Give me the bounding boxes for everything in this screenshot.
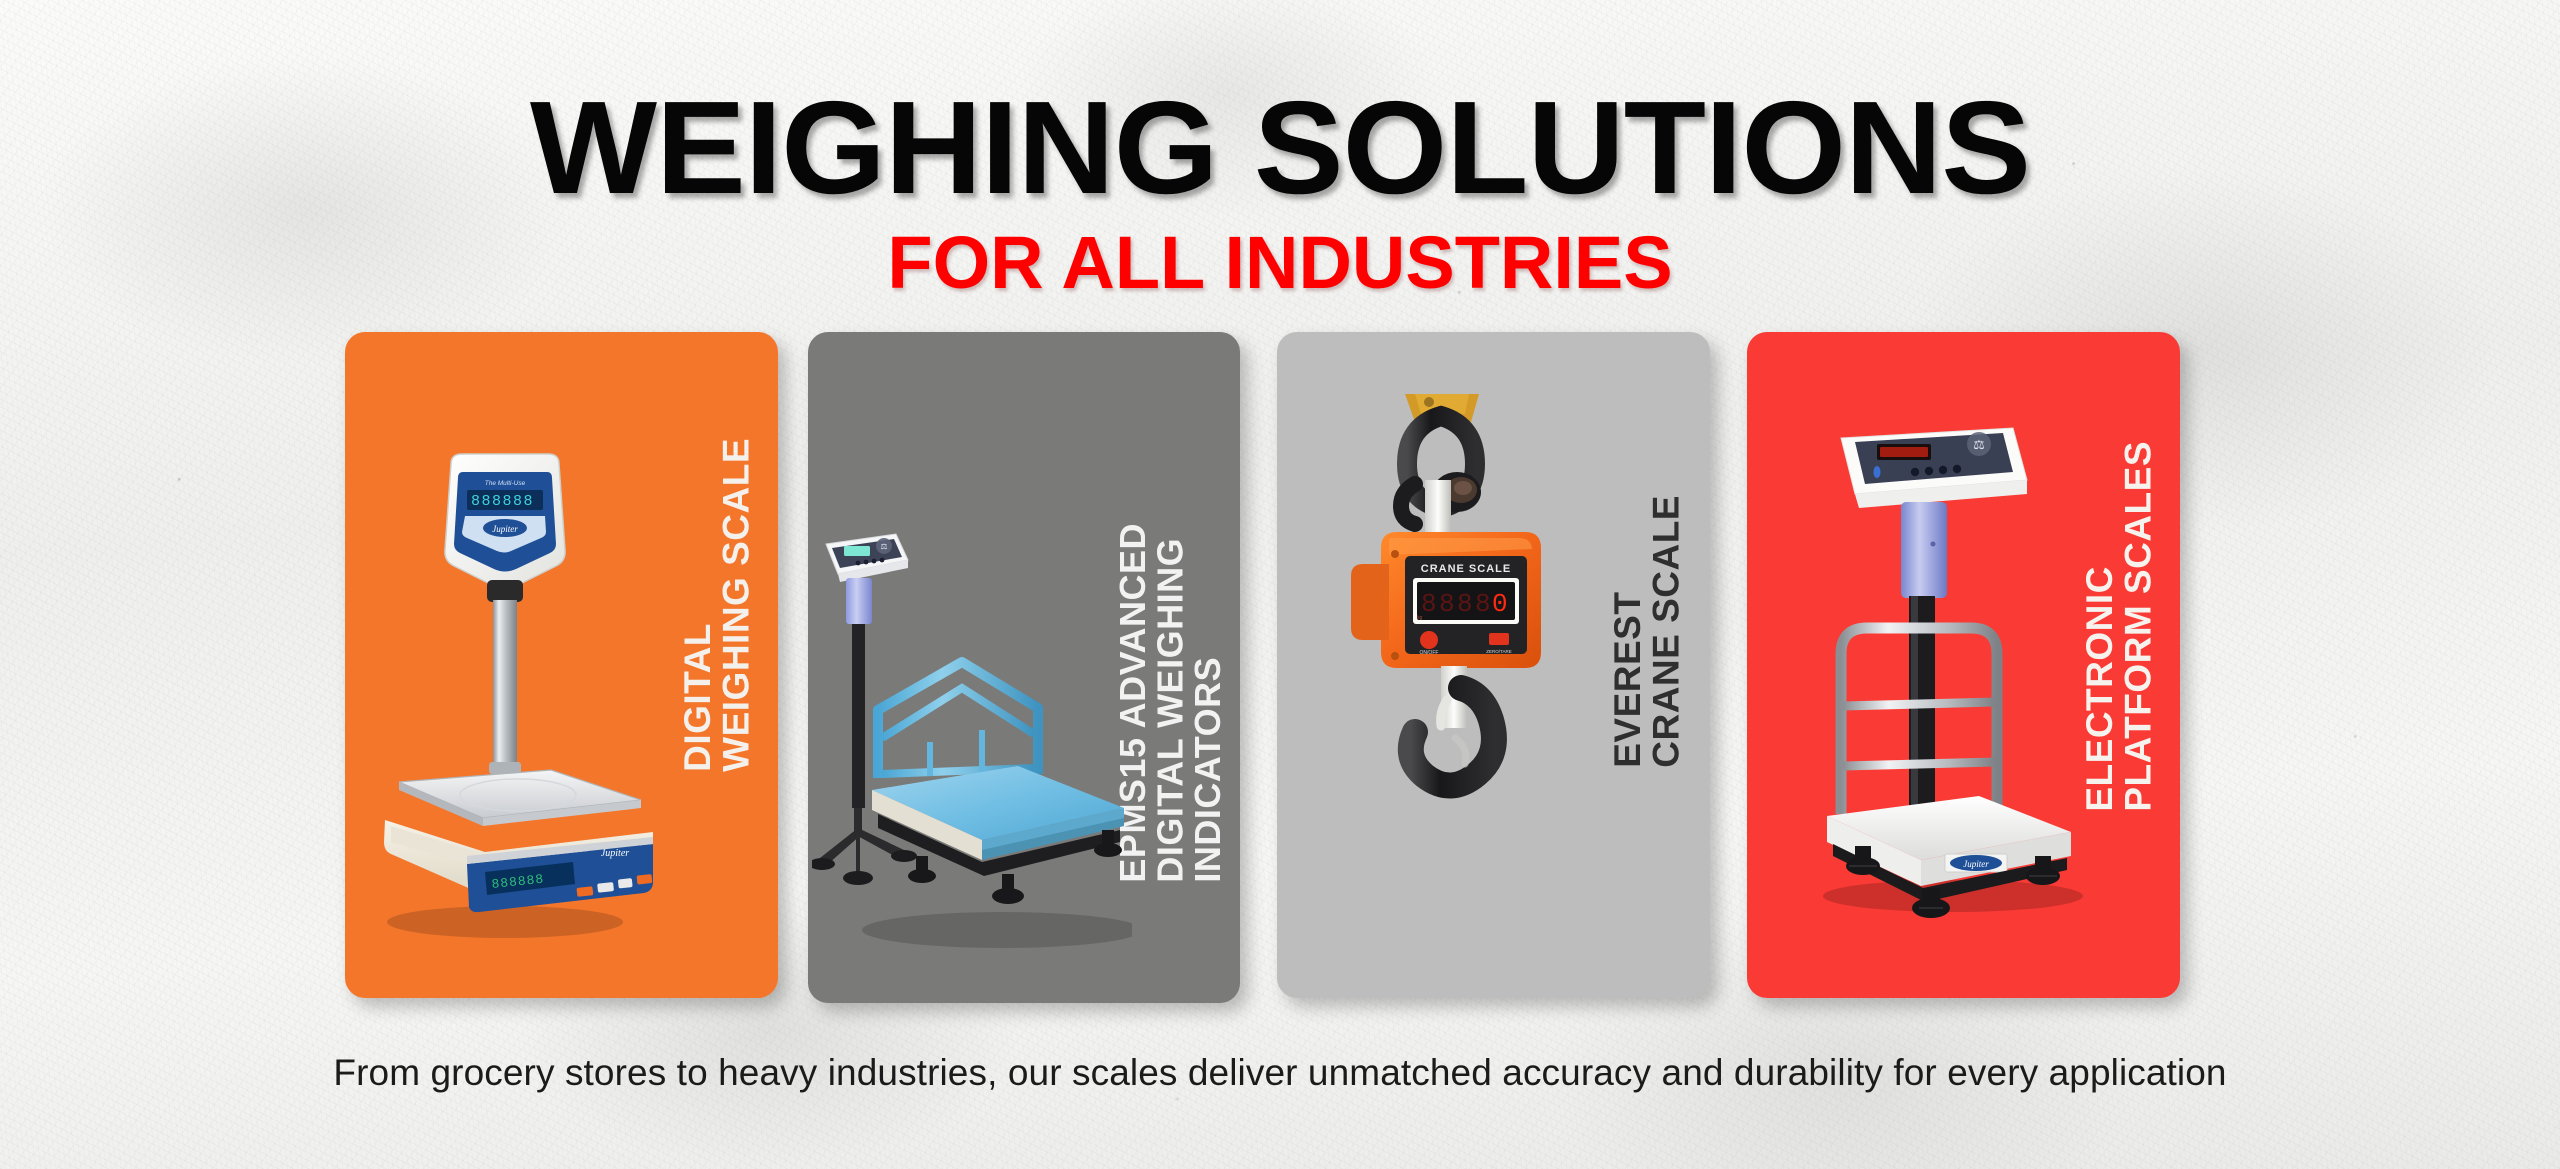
product-card-electronic-platform-scales[interactable]: ELECTRONIC PLATFORM SCALES: [1747, 332, 2180, 998]
product-card-digital-weighing-scale[interactable]: DIGITAL WEIGHING SCALE: [345, 332, 778, 998]
svg-text:Jupiter: Jupiter: [601, 848, 629, 859]
page-subtitle: FOR ALL INDUSTRIES: [0, 226, 2560, 300]
svg-text:Jupiter: Jupiter: [492, 524, 518, 534]
page-title: WEIGHING SOLUTIONS: [0, 86, 2560, 210]
digital-weighing-scale-image: The Multi-Use 888888 Jupiter: [355, 452, 655, 972]
svg-text:888888: 888888: [471, 493, 534, 510]
svg-text:The Multi-Use: The Multi-Use: [485, 480, 526, 487]
product-card-epms15-indicators[interactable]: EPMS15 ADVANCED DIGITAL WEIGHING INDICAT…: [808, 332, 1240, 1003]
card-label-everest-crane-scale: EVEREST CRANE SCALE: [1609, 495, 1686, 768]
product-card-row: DIGITAL WEIGHING SCALE: [345, 332, 2180, 1004]
svg-text:0: 0: [1492, 589, 1510, 619]
svg-text:⚖: ⚖: [1973, 437, 1985, 452]
svg-text:8: 8: [1421, 589, 1439, 619]
svg-text:CRANE SCALE: CRANE SCALE: [1421, 563, 1511, 575]
svg-text:ZERO/TARE: ZERO/TARE: [1486, 649, 1511, 654]
banner-caption: From grocery stores to heavy industries,…: [0, 1052, 2560, 1094]
svg-text:⚖: ⚖: [880, 542, 887, 551]
svg-text:Jupiter: Jupiter: [1963, 859, 1989, 869]
svg-text:8: 8: [1439, 589, 1457, 619]
platform-scale-with-rail-image: ⚖: [812, 478, 1132, 988]
svg-text:8: 8: [1457, 589, 1475, 619]
svg-text:ON/OFF: ON/OFF: [1420, 650, 1439, 656]
card-label-digital-weighing-scale: DIGITAL WEIGHING SCALE: [679, 438, 756, 772]
electronic-platform-scale-image: ⚖ Jupiter: [1803, 384, 2093, 954]
headings-block: WEIGHING SOLUTIONS FOR ALL INDUSTRIES: [0, 0, 2560, 300]
svg-text:8: 8: [1475, 589, 1493, 619]
crane-scale-image: CRANE SCALE 8 8 8 8 0 kg ON/OFF ZERO/TAR…: [1329, 388, 1589, 948]
svg-text:kg: kg: [1417, 615, 1423, 621]
product-card-everest-crane-scale[interactable]: EVEREST CRANE SCALE: [1277, 332, 1710, 998]
